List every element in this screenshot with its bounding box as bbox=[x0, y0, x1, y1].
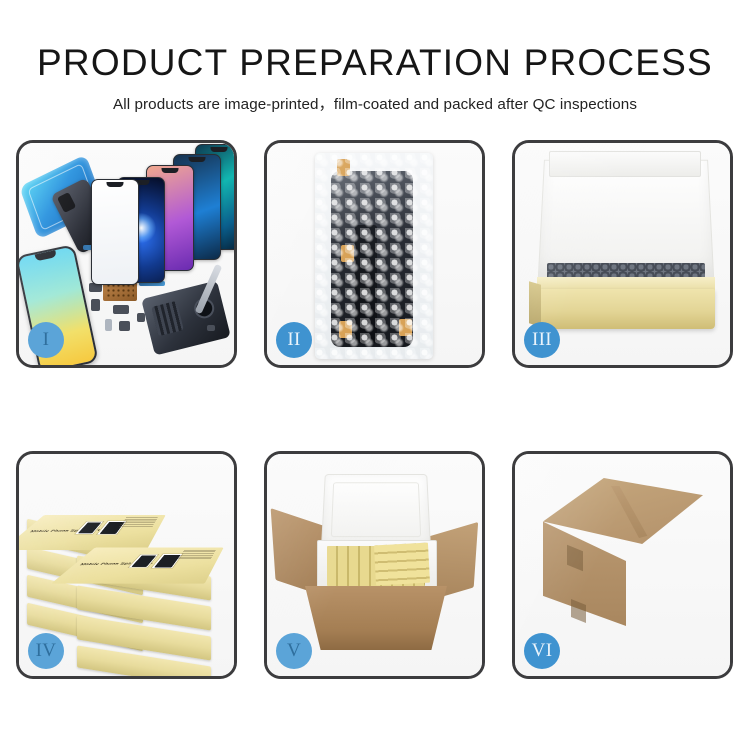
panel-6-step-badge: VI bbox=[524, 633, 560, 669]
box-spec-lines-graphic-2 bbox=[177, 550, 216, 560]
panel-5-step-badge: V bbox=[276, 633, 312, 669]
panel-1-step-badge: I bbox=[28, 322, 64, 358]
part-graphic-e bbox=[137, 313, 145, 322]
phone-housing-graphic bbox=[141, 280, 231, 355]
page-subtitle: All products are image-printed，film-coat… bbox=[0, 83, 750, 114]
screen-glass-graphic bbox=[91, 179, 139, 285]
panel-3-step-badge: III bbox=[524, 322, 560, 358]
bubble-wrap-pouch-graphic bbox=[315, 153, 433, 359]
part-graphic-c bbox=[113, 305, 129, 314]
foam-lid-top-graphic bbox=[549, 151, 701, 177]
yellow-box-side-flap-graphic bbox=[529, 281, 541, 326]
foam-lid-back-graphic bbox=[538, 160, 714, 278]
printed-box-lid-graphic-2: Mobile Phone Spare Parts bbox=[51, 548, 224, 584]
part-graphic-h bbox=[207, 325, 215, 331]
header: PRODUCT PREPARATION PROCESS All products… bbox=[0, 0, 750, 114]
printed-box-lid-graphic-1: Mobile Phone Spare Parts bbox=[19, 515, 166, 550]
carton-body-graphic bbox=[305, 586, 447, 650]
process-panel-3[interactable]: III bbox=[512, 140, 733, 368]
part-graphic-d bbox=[119, 321, 130, 331]
panel-4-step-badge: IV bbox=[28, 633, 64, 669]
part-graphic-g bbox=[105, 319, 112, 331]
process-panel-grid: I II III bbox=[16, 140, 734, 680]
foam-lid-graphic bbox=[321, 474, 431, 546]
yellow-box-front-graphic bbox=[537, 289, 715, 329]
process-panel-4[interactable]: Mobile Phone Spare Parts Mobile Phone Sp… bbox=[16, 451, 237, 679]
page-title: PRODUCT PREPARATION PROCESS bbox=[0, 0, 750, 83]
panel-2-step-badge: II bbox=[276, 322, 312, 358]
box-spec-lines-graphic-1 bbox=[118, 517, 157, 527]
process-panel-2[interactable]: II bbox=[264, 140, 485, 368]
bubble-texture-graphic-2 bbox=[315, 153, 433, 359]
process-panel-1[interactable]: I bbox=[16, 140, 237, 368]
part-graphic-b bbox=[91, 299, 100, 311]
process-panel-6[interactable]: VI bbox=[512, 451, 733, 679]
phone-lineup-graphic bbox=[91, 151, 234, 276]
process-panel-5[interactable]: V bbox=[264, 451, 485, 679]
yellow-boxes-inside-graphic-2 bbox=[374, 543, 430, 586]
